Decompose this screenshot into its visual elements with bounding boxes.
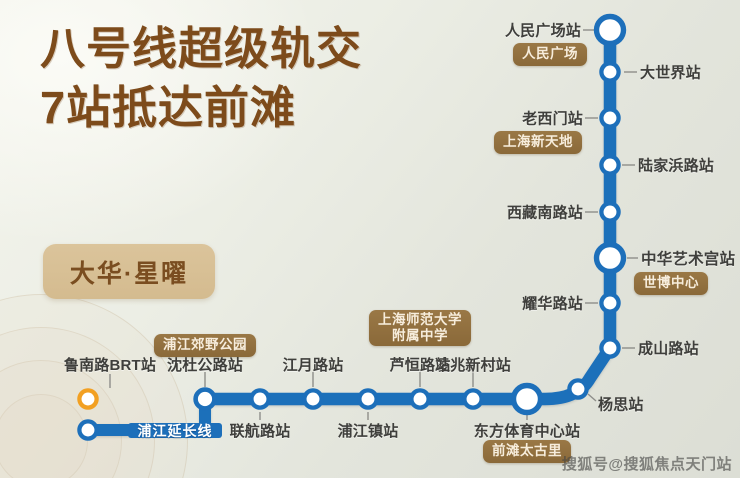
station-label-luheng-road[interactable]: 芦恒路站 [390,354,451,375]
station-marker-dashijie[interactable] [601,63,618,80]
poi-badge-xintiandi: 上海新天地 [494,131,582,154]
station-label-oriental-sports-center[interactable]: 东方体育中心站 [474,420,580,441]
station-marker-lunan-road-brt[interactable] [79,390,96,407]
station-label-china-art-museum[interactable]: 中华艺术宫站 [641,247,735,269]
station-label-lianhang-road[interactable]: 联航路站 [230,420,291,441]
station-marker-chengshan-road[interactable] [601,339,618,356]
branch-line-label: 浦江延长线 [138,421,213,441]
station-label-jiangyue-road[interactable]: 江月路站 [283,354,344,375]
station-marker-lingzhao-xincun[interactable] [464,390,481,407]
poi-badge-peoples-square: 人民广场 [513,43,587,66]
poi-badge-pujiang-country-park: 浦江郊野公园 [154,334,256,357]
station-marker-yaohua-road[interactable] [601,294,618,311]
station-marker-branch-terminus[interactable] [79,421,96,438]
station-marker-laoximen[interactable] [601,109,618,126]
station-markers [79,17,623,439]
station-marker-luheng-road[interactable] [411,390,428,407]
station-marker-xizang-south-road[interactable] [601,203,618,220]
station-marker-jiangyue-road[interactable] [304,390,321,407]
poi-badge-shnu-line-2: 附属中学 [392,328,448,343]
station-marker-china-art-museum[interactable] [597,245,624,272]
station-marker-lianhang-road[interactable] [251,390,268,407]
poi-badge-shnu-line-1: 上海师范大学 [378,312,462,327]
station-label-laoximen[interactable]: 老西门站 [522,108,583,129]
station-label-chengshan-road[interactable]: 成山路站 [638,338,699,359]
station-marker-yangsi[interactable] [569,380,586,397]
station-label-lunan-road-brt[interactable]: 鲁南路BRT站 [64,354,156,375]
station-marker-shendu-highway[interactable] [196,390,215,409]
station-marker-lujiabang-road[interactable] [601,156,618,173]
station-label-shendu-highway[interactable]: 沈杜公路站 [167,354,243,375]
station-marker-pujiang-town[interactable] [359,390,376,407]
station-label-peoples-square[interactable]: 人民广场站 [505,20,581,41]
station-marker-oriental-sports-center[interactable] [514,386,541,413]
station-label-lujiabang-road[interactable]: 陆家浜路站 [638,155,714,176]
station-label-pujiang-town[interactable]: 浦江镇站 [338,420,399,441]
station-label-dashijie[interactable]: 大世界站 [640,62,701,83]
poi-badge-qiantan-taikoo-li: 前滩太古里 [483,440,571,463]
metro-line-poster: 八号线超级轨交 7站抵达前滩 大华·星曜 [0,0,740,478]
station-marker-peoples-square[interactable] [597,17,624,44]
station-label-xizang-south-road[interactable]: 西藏南路站 [507,202,583,223]
poi-badge-shnu-affiliated-school: 上海师范大学 附属中学 [369,310,471,346]
station-label-yangsi[interactable]: 杨思站 [598,394,644,415]
station-label-yaohua-road[interactable]: 耀华路站 [522,293,583,314]
poi-badge-expo-center: 世博中心 [634,272,708,295]
watermark-text: 搜狐号@搜狐焦点天门站 [562,453,732,474]
